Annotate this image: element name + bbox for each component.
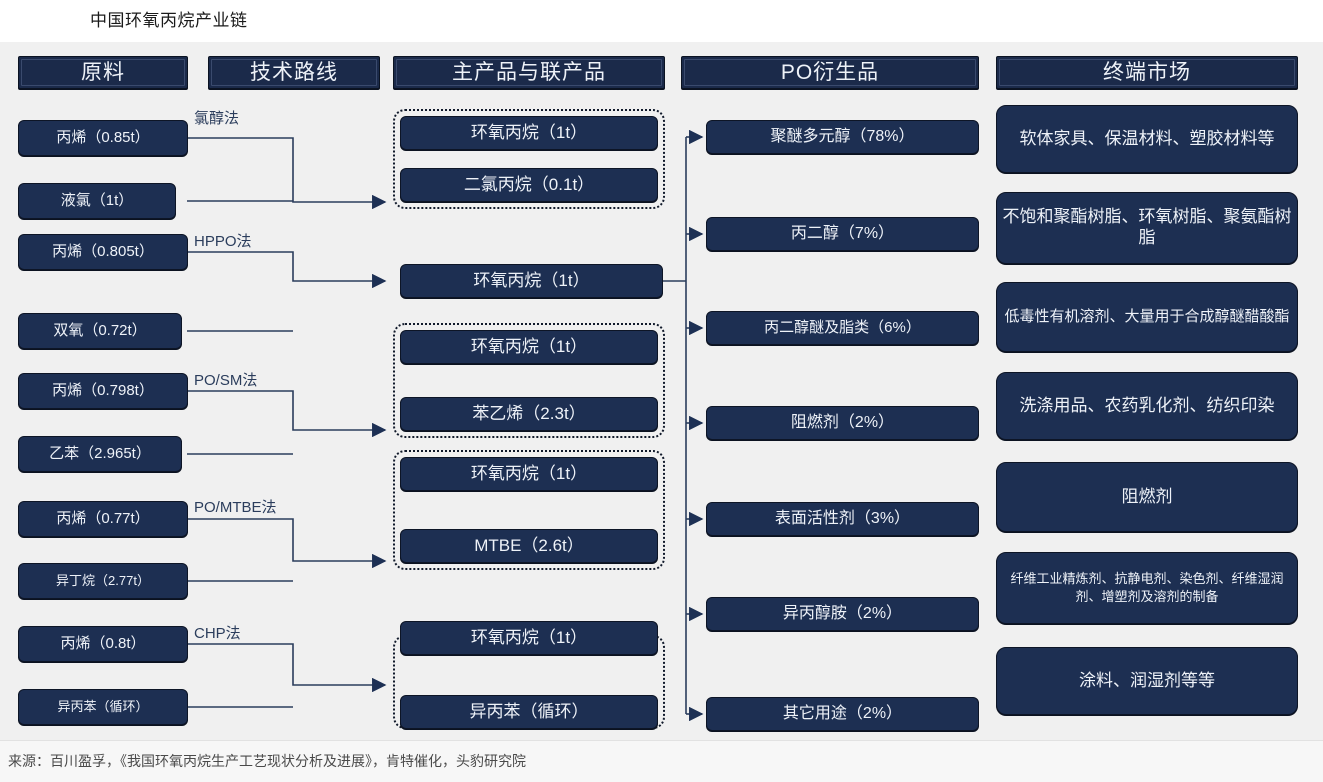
derivative-box[interactable]: 聚醚多元醇（78%）	[706, 120, 979, 154]
raw-material-box[interactable]: 异丁烷（2.77t）	[18, 563, 188, 599]
tech-route-label: CHP法	[194, 622, 241, 643]
raw-material-label: 异丙苯（循环）	[57, 699, 148, 715]
tech-route-label: 氯醇法	[194, 107, 239, 128]
raw-material-label: 丙烯（0.77t）	[56, 510, 149, 528]
raw-material-label: 丙烯（0.8t）	[60, 635, 145, 653]
derivative-box[interactable]: 其它用途（2%）	[706, 697, 979, 731]
product-box[interactable]: 环氧丙烷（1t）	[400, 116, 658, 150]
product-label: MTBE（2.6t）	[474, 536, 584, 557]
product-label: 苯乙烯（2.3t）	[472, 404, 585, 425]
end-market-label: 低毒性有机溶剂、大量用于合成醇醚醋酸酯	[1004, 308, 1289, 326]
derivative-box[interactable]: 表面活性剂（3%）	[706, 502, 979, 536]
raw-material-box[interactable]: 乙苯（2.965t）	[18, 436, 182, 472]
header-label: 技术路线	[250, 60, 338, 86]
end-market-label: 阻燃剂	[1122, 487, 1173, 508]
product-label: 环氧丙烷（1t）	[471, 464, 587, 485]
source-note: 来源：百川盈孚，《我国环氧丙烷生产工艺现状分析及进展》，肯特催化，头豹研究院	[8, 751, 526, 771]
derivative-label: 丙二醇（7%）	[791, 224, 894, 244]
tech-route-label: PO/SM法	[194, 369, 257, 390]
end-market-box[interactable]: 纤维工业精炼剂、抗静电剂、染色剂、纤维湿润剂、增塑剂及溶剂的制备	[996, 552, 1298, 624]
end-market-label: 软体家具、保温材料、塑胶材料等	[1020, 129, 1275, 150]
raw-material-box[interactable]: 异丙苯（循环）	[18, 689, 188, 725]
end-market-box[interactable]: 洗涤用品、农药乳化剂、纺织印染	[996, 372, 1298, 440]
column-header-po-derivatives: PO衍生品	[681, 56, 979, 89]
derivative-box[interactable]: 阻燃剂（2%）	[706, 406, 979, 440]
footer: 来源：百川盈孚，《我国环氧丙烷生产工艺现状分析及进展》，肯特催化，头豹研究院	[0, 740, 1323, 782]
column-header-main-products: 主产品与联产品	[393, 56, 665, 89]
derivative-box[interactable]: 丙二醇（7%）	[706, 217, 979, 251]
raw-material-label: 丙烯（0.85t）	[56, 129, 149, 147]
product-label: 环氧丙烷（1t）	[471, 337, 587, 358]
derivative-label: 异丙醇胺（2%）	[783, 604, 902, 624]
diagram-root: 中国环氧丙烷产业链	[0, 0, 1323, 781]
raw-material-label: 双氧（0.72t）	[53, 322, 146, 340]
header-label: 终端市场	[1103, 60, 1191, 86]
product-box[interactable]: 环氧丙烷（1t）	[400, 621, 658, 655]
product-box[interactable]: 苯乙烯（2.3t）	[400, 397, 658, 431]
end-market-label: 洗涤用品、农药乳化剂、纺织印染	[1020, 396, 1275, 417]
end-market-box[interactable]: 不饱和聚酯树脂、环氧树脂、聚氨酯树脂	[996, 192, 1298, 264]
product-box[interactable]: 环氧丙烷（1t）	[400, 330, 658, 364]
derivative-label: 其它用途（2%）	[783, 704, 902, 724]
raw-material-box[interactable]: 丙烯（0.85t）	[18, 120, 188, 156]
raw-material-label: 丙烯（0.798t）	[52, 382, 154, 400]
derivative-label: 表面活性剂（3%）	[775, 509, 910, 529]
derivative-label: 丙二醇醚及脂类（6%）	[764, 319, 921, 337]
raw-material-label: 异丁烷（2.77t）	[56, 573, 150, 589]
end-market-box[interactable]: 阻燃剂	[996, 462, 1298, 532]
product-label: 二氯丙烷（0.1t）	[464, 175, 594, 196]
raw-material-box[interactable]: 丙烯（0.798t）	[18, 373, 188, 409]
page-title: 中国环氧丙烷产业链	[90, 6, 248, 31]
product-box[interactable]: 异丙苯（循环）	[400, 695, 658, 729]
diagram-canvas: 原料 技术路线 主产品与联产品 PO衍生品 终端市场 丙烯（0.85t） 液氯（…	[0, 42, 1323, 740]
product-label: 环氧丙烷（1t）	[471, 628, 587, 649]
raw-material-box[interactable]: 液氯（1t）	[18, 183, 176, 219]
product-label: 环氧丙烷（1t）	[473, 271, 589, 292]
end-market-label: 涂料、润湿剂等等	[1079, 671, 1215, 692]
column-header-raw-materials: 原料	[18, 56, 188, 89]
product-box[interactable]: MTBE（2.6t）	[400, 529, 658, 563]
end-market-label: 不饱和聚酯树脂、环氧树脂、聚氨酯树脂	[1001, 207, 1293, 248]
raw-material-label: 丙烯（0.805t）	[52, 243, 154, 261]
raw-material-label: 乙苯（2.965t）	[49, 445, 151, 463]
derivative-label: 聚醚多元醇（78%）	[770, 127, 914, 147]
column-header-tech-route: 技术路线	[208, 56, 380, 89]
product-box[interactable]: 环氧丙烷（1t）	[400, 264, 663, 298]
header-label: PO衍生品	[781, 60, 879, 86]
derivative-label: 阻燃剂（2%）	[791, 413, 894, 433]
derivative-box[interactable]: 丙二醇醚及脂类（6%）	[706, 311, 979, 345]
product-label: 环氧丙烷（1t）	[471, 123, 587, 144]
end-market-box[interactable]: 涂料、润湿剂等等	[996, 647, 1298, 715]
derivative-box[interactable]: 异丙醇胺（2%）	[706, 597, 979, 631]
end-market-box[interactable]: 软体家具、保温材料、塑胶材料等	[996, 105, 1298, 173]
raw-material-box[interactable]: 丙烯（0.77t）	[18, 501, 188, 537]
raw-material-box[interactable]: 双氧（0.72t）	[18, 313, 182, 349]
raw-material-label: 液氯（1t）	[61, 192, 134, 210]
tech-route-label: HPPO法	[194, 230, 252, 251]
tech-route-label: PO/MTBE法	[194, 496, 277, 517]
header-label: 主产品与联产品	[452, 60, 606, 86]
end-market-box[interactable]: 低毒性有机溶剂、大量用于合成醇醚醋酸酯	[996, 282, 1298, 352]
header-label: 原料	[81, 60, 125, 86]
product-box[interactable]: 环氧丙烷（1t）	[400, 457, 658, 491]
product-label: 异丙苯（循环）	[470, 702, 589, 723]
product-box[interactable]: 二氯丙烷（0.1t）	[400, 168, 658, 202]
end-market-label: 纤维工业精炼剂、抗静电剂、染色剂、纤维湿润剂、增塑剂及溶剂的制备	[1001, 570, 1293, 605]
column-header-end-market: 终端市场	[996, 56, 1298, 89]
raw-material-box[interactable]: 丙烯（0.805t）	[18, 234, 188, 270]
raw-material-box[interactable]: 丙烯（0.8t）	[18, 626, 188, 662]
